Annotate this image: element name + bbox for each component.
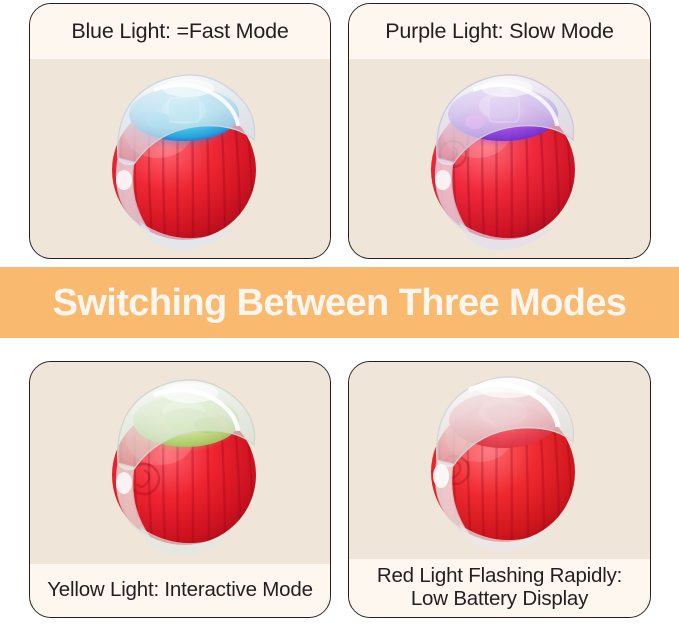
card-caption-text: Red Light Flashing Rapidly: Low Battery …	[371, 565, 628, 611]
ball-illustration-blue	[88, 62, 273, 257]
headline-banner-text: Switching Between Three Modes	[53, 284, 627, 322]
ball-illustration-yellow	[88, 367, 273, 562]
card-caption-band: Purple Light: Slow Mode	[349, 4, 650, 59]
mode-card-top-right: Purple Light: Slow Mode	[348, 3, 651, 259]
product-ball-image-yellow	[88, 367, 273, 562]
product-ball-image-red	[407, 364, 592, 559]
card-caption-band: Yellow Light: Interactive Mode	[30, 564, 330, 617]
product-ball-image-blue	[88, 62, 273, 257]
mode-card-bottom-right: Red Light Flashing Rapidly: Low Battery …	[348, 361, 651, 618]
card-image-area	[30, 59, 330, 258]
ball-illustration-purple	[407, 62, 592, 257]
card-caption-text: Purple Light: Slow Mode	[379, 19, 619, 43]
product-ball-image-purple	[407, 62, 592, 257]
card-image-area	[30, 362, 330, 564]
card-image-area	[349, 59, 650, 258]
card-image-area	[349, 362, 650, 559]
card-caption-text: Blue Light: =Fast Mode	[65, 19, 294, 43]
card-caption-text: Yellow Light: Interactive Mode	[41, 579, 319, 602]
ball-illustration-red	[407, 364, 592, 559]
card-caption-band: Red Light Flashing Rapidly: Low Battery …	[349, 559, 650, 617]
mode-card-top-left: Blue Light: =Fast Mode	[29, 3, 331, 259]
infographic-root: Blue Light: =Fast Mode	[0, 0, 679, 625]
headline-banner: Switching Between Three Modes	[0, 267, 679, 338]
card-caption-band: Blue Light: =Fast Mode	[30, 4, 330, 59]
mode-card-bottom-left: Yellow Light: Interactive Mode	[29, 361, 331, 618]
